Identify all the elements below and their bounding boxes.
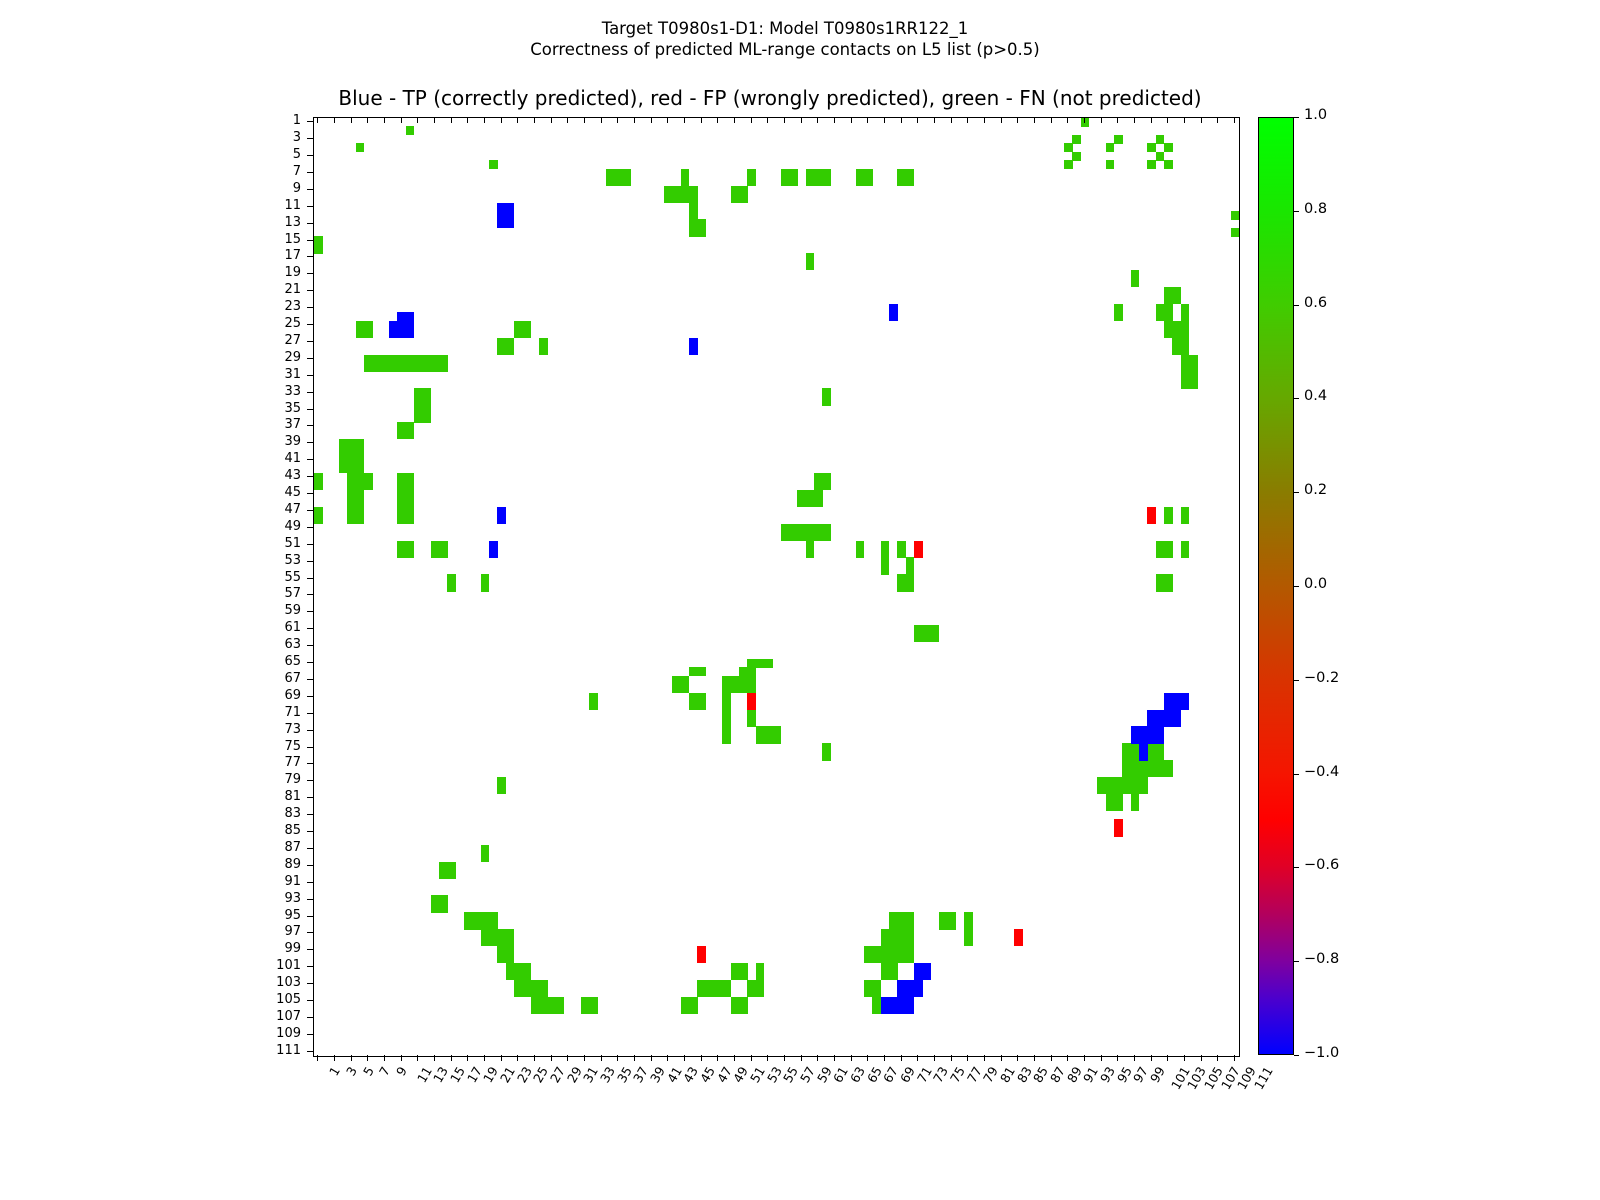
y-axis-label: 101 [247,958,301,973]
y-axis-label: 21 [247,282,301,297]
x-axis-tick [334,117,335,123]
y-axis-tick [307,780,313,781]
y-axis-label: 19 [247,265,301,280]
y-axis-tick [307,544,313,545]
contact-cell-fn [822,752,831,761]
contact-cell-fn [906,177,915,186]
contact-cell-fn [1147,160,1156,169]
y-axis-label: 11 [247,198,301,213]
y-axis-tick [307,899,313,900]
y-axis-label: 39 [247,434,301,449]
x-axis-label: 7 [376,1064,393,1078]
x-axis-tick [1017,1055,1018,1061]
x-axis-tick [684,1055,685,1061]
x-axis-tick [951,117,952,123]
colorbar-tick [1294,117,1299,118]
x-axis-tick [1217,117,1218,123]
contact-cell-fp [1147,515,1156,524]
x-axis-tick [751,1055,752,1061]
figure-title-line1: Target T0980s1-D1: Model T0980s1RR122_1 [0,18,1570,39]
y-axis-label: 83 [247,806,301,821]
y-axis-label: 59 [247,603,301,618]
x-axis-tick [901,117,902,123]
x-axis-tick [951,1055,952,1061]
y-axis-tick [307,409,313,410]
x-axis-tick [884,117,885,123]
x-axis-tick [751,117,752,123]
x-axis-tick [1184,117,1185,123]
y-axis-label: 71 [247,705,301,720]
y-axis-tick [307,273,313,274]
y-axis-label: 25 [247,316,301,331]
contact-cell-fn [406,126,415,135]
y-axis-label: 13 [247,215,301,230]
x-axis-tick [917,117,918,123]
y-axis-label: 69 [247,688,301,703]
contact-cell-fn [822,177,831,186]
x-axis-tick [617,1055,618,1061]
y-axis-tick [307,459,313,460]
y-axis-label: 47 [247,502,301,517]
colorbar-tick-label: −1.0 [1304,1045,1339,1061]
y-axis-tick [307,206,313,207]
contact-cell-tp [497,515,506,524]
y-axis-label: 85 [247,823,301,838]
x-axis-tick [1234,1055,1235,1061]
x-axis-tick [334,1055,335,1061]
y-axis-tick [307,713,313,714]
y-axis-label: 15 [247,232,301,247]
contact-cell-fn [1164,583,1173,592]
x-axis-tick [384,1055,385,1061]
x-axis-tick [1084,117,1085,123]
y-axis-label: 9 [247,181,301,196]
x-axis-tick [601,117,602,123]
colorbar-gradient [1258,117,1294,1055]
y-axis-label: 37 [247,417,301,432]
x-axis-tick [1034,117,1035,123]
colorbar-tick-label: −0.2 [1304,670,1339,686]
contact-cell-fn [1231,211,1240,220]
y-axis-tick [307,510,313,511]
colorbar-tick-label: 0.6 [1304,295,1327,311]
x-axis-tick [434,117,435,123]
colorbar-tick [1294,305,1299,306]
contact-cell-fn [739,1005,748,1014]
x-axis-tick [417,117,418,123]
y-axis-tick [307,865,313,866]
contact-cell-tp [689,346,698,355]
y-axis-label: 79 [247,772,301,787]
y-axis-label: 49 [247,519,301,534]
colorbar-tick [1294,961,1299,962]
x-axis-tick [701,1055,702,1061]
contact-cell-fn [481,583,490,592]
x-axis-tick [801,1055,802,1061]
y-axis-tick [307,172,313,173]
contact-cell-tp [914,988,923,997]
contact-cell-fn [489,160,498,169]
x-axis-tick [767,117,768,123]
x-axis-tick [967,1055,968,1061]
x-axis-tick [317,117,318,123]
contact-cell-fn [1164,769,1173,778]
y-axis-label: 55 [247,570,301,585]
x-axis-tick [1084,1055,1085,1061]
x-axis-tick [867,117,868,123]
x-axis-tick [634,1055,635,1061]
contact-cell-fn [1081,118,1090,127]
contact-cell-fn [439,904,448,913]
y-axis-label: 43 [247,468,301,483]
contact-cell-fn [697,228,706,237]
contact-cell-fn [764,659,773,668]
y-axis-tick [307,341,313,342]
x-axis-tick [467,117,468,123]
y-axis-tick [307,527,313,528]
x-axis-tick [934,1055,935,1061]
y-axis-tick [307,797,313,798]
x-axis-tick [867,1055,868,1061]
x-axis-tick [684,117,685,123]
colorbar-tick [1294,398,1299,399]
contact-cell-fp [1014,938,1023,947]
y-axis-label: 31 [247,367,301,382]
y-axis-label: 81 [247,789,301,804]
x-axis-tick [651,1055,652,1061]
y-axis-label: 93 [247,891,301,906]
x-axis-tick [517,1055,518,1061]
x-axis-tick [551,1055,552,1061]
y-axis-tick [307,1000,313,1001]
contact-cell-fn [1131,279,1140,288]
y-axis-label: 99 [247,941,301,956]
x-axis-label: 99 [1147,1064,1168,1085]
contact-cell-fn [906,583,915,592]
contact-cell-fn [747,177,756,186]
colorbar-tick-label: −0.4 [1304,764,1339,780]
x-axis-tick [917,1055,918,1061]
x-axis-tick [884,1055,885,1061]
y-axis-label: 33 [247,384,301,399]
contact-cell-fn [697,667,706,676]
contact-cell-fn [806,549,815,558]
contact-cell-tp [489,549,498,558]
contact-cell-fn [822,481,831,490]
x-axis-tick [567,117,568,123]
colorbar-tick [1294,680,1299,681]
contact-cell-fn [406,515,415,524]
contact-cell-tp [889,312,898,321]
y-axis-label: 5 [247,147,301,162]
contact-cell-fn [447,583,456,592]
x-axis-tick [501,1055,502,1061]
colorbar-tick-label: −0.6 [1304,857,1339,873]
colorbar-tick-label: −0.8 [1304,951,1339,967]
contact-cell-fn [1231,228,1240,237]
y-axis-label: 95 [247,908,301,923]
y-axis-tick [307,1017,313,1018]
contact-cell-tp [1156,735,1165,744]
y-axis-label: 3 [247,130,301,145]
x-axis-tick [584,117,585,123]
y-axis-tick [307,493,313,494]
contact-cell-fn [1164,143,1173,152]
x-axis-tick [1134,1055,1135,1061]
x-axis-tick [734,117,735,123]
colorbar-tick [1294,1055,1299,1056]
x-axis-tick [384,117,385,123]
contact-cell-fn [756,988,765,997]
y-axis-tick [307,983,313,984]
y-axis-label: 29 [247,350,301,365]
contact-cell-fn [931,633,940,642]
contact-cell-fn [356,515,365,524]
x-axis-tick [784,1055,785,1061]
x-axis-tick [717,117,718,123]
y-axis-tick [307,594,313,595]
contact-cell-fn [447,870,456,879]
x-axis-tick [984,1055,985,1061]
colorbar-tick [1294,586,1299,587]
contact-cell-fn [539,346,548,355]
contact-cell-fn [739,194,748,203]
contact-map-plot-area[interactable] [313,117,1240,1057]
y-axis-label: 73 [247,722,301,737]
y-axis-tick [307,1034,313,1035]
contact-cell-fn [439,363,448,372]
x-axis-tick [401,1055,402,1061]
contact-cell-fn [439,549,448,558]
y-axis-tick [307,155,313,156]
contact-cell-fn [622,177,631,186]
y-axis-label: 111 [247,1043,301,1058]
contact-cell-fn [1181,515,1190,524]
y-axis-tick [307,392,313,393]
contact-map-cells [314,118,1239,1056]
contact-cell-fn [556,1005,565,1014]
contact-cell-fn [822,397,831,406]
x-axis-tick [934,117,935,123]
x-axis-tick [1101,1055,1102,1061]
y-axis-label: 67 [247,671,301,686]
contact-cell-fn [822,532,831,541]
x-axis-tick [851,1055,852,1061]
x-axis-tick [1051,117,1052,123]
contact-cell-fn [1189,380,1198,389]
contact-cell-tp [506,219,515,228]
contact-cell-fn [772,735,781,744]
contact-cell-fn [522,329,531,338]
x-axis-tick [1034,1055,1035,1061]
contact-cell-fn [506,346,515,355]
x-axis-tick [834,1055,835,1061]
contact-cell-fn [364,481,373,490]
x-axis-tick [351,1055,352,1061]
contact-cell-fn [406,549,415,558]
x-axis-tick [984,117,985,123]
x-axis-tick [1201,117,1202,123]
contact-cell-fn [422,414,431,423]
x-axis-tick [967,117,968,123]
x-axis-tick [567,1055,568,1061]
y-axis-label: 107 [247,1009,301,1024]
contact-cell-tp [906,1005,915,1014]
x-axis-tick [534,117,535,123]
y-axis-tick [307,578,313,579]
contact-cell-fn [1164,160,1173,169]
x-axis-tick [317,1055,318,1061]
colorbar-tick-label: 1.0 [1304,107,1327,123]
x-axis-tick [1101,117,1102,123]
x-axis-tick [417,1055,418,1061]
colorbar-tick-label: 0.8 [1304,201,1327,217]
contact-cell-fp [914,549,923,558]
y-axis-label: 77 [247,755,301,770]
x-axis-tick [1234,117,1235,123]
colorbar-tick-label: 0.0 [1304,576,1327,592]
contact-cell-tp [1139,752,1148,761]
y-axis-tick [307,882,313,883]
colorbar-tick-label: 0.2 [1304,482,1327,498]
x-axis-tick [1001,117,1002,123]
x-axis-tick [367,117,368,123]
contact-cell-fn [589,1005,598,1014]
y-axis-tick [307,138,313,139]
y-axis-label: 97 [247,924,301,939]
x-axis-label: 9 [393,1064,410,1078]
y-axis-tick [307,730,313,731]
x-axis-tick [651,117,652,123]
y-axis-tick [307,848,313,849]
y-axis-label: 63 [247,637,301,652]
x-axis-tick [467,1055,468,1061]
contact-cell-fn [722,735,731,744]
y-axis-tick [307,476,313,477]
x-axis-tick [534,1055,535,1061]
y-axis-tick [307,814,313,815]
y-axis-label: 105 [247,992,301,1007]
y-axis-tick [307,442,313,443]
figure-title-line2: Correctness of predicted ML-range contac… [0,39,1570,60]
contact-cell-fn [856,549,865,558]
contact-cell-fn [1114,312,1123,321]
y-axis-label: 57 [247,586,301,601]
y-axis-label: 51 [247,536,301,551]
y-axis-label: 91 [247,874,301,889]
contact-cell-fn [1164,549,1173,558]
contact-map-figure: Target T0980s1-D1: Model T0980s1RR122_1 … [0,0,1600,1200]
x-axis-tick [851,117,852,123]
contact-cell-fn [356,143,365,152]
y-axis-tick [307,189,313,190]
x-axis-tick [351,117,352,123]
contact-cell-fn [364,329,373,338]
y-axis-tick [307,645,313,646]
y-axis-tick [307,747,313,748]
contact-cell-fn [1139,786,1148,795]
contact-cell-fn [697,701,706,710]
y-axis-tick [307,121,313,122]
x-axis-tick [367,1055,368,1061]
colorbar-tick [1294,211,1299,212]
y-axis-tick [307,916,313,917]
contact-cell-fn [1114,802,1123,811]
contact-cell-fn [314,481,323,490]
y-axis-label: 61 [247,620,301,635]
contact-cell-fn [789,177,798,186]
x-axis-tick [1167,117,1168,123]
contact-cell-fn [1181,549,1190,558]
x-axis-tick [701,117,702,123]
contact-cell-fn [314,515,323,524]
x-axis-tick [817,1055,818,1061]
x-axis-tick [434,1055,435,1061]
contact-cell-tp [1172,718,1181,727]
y-axis-label: 109 [247,1026,301,1041]
contact-cell-fn [589,701,598,710]
x-axis-label: 1 [326,1064,343,1078]
contact-cell-fn [314,245,323,254]
x-axis-tick [1167,1055,1168,1061]
x-axis-tick [401,117,402,123]
x-axis-tick [617,117,618,123]
y-axis-tick [307,696,313,697]
contact-cell-fn [814,498,823,507]
x-axis-label: 5 [359,1064,376,1078]
contact-cell-fn [864,177,873,186]
x-axis-tick [801,117,802,123]
x-axis-tick [551,117,552,123]
x-axis-tick [834,117,835,123]
y-axis-tick [307,561,313,562]
y-axis-tick [307,290,313,291]
contact-cell-fn [881,566,890,575]
contact-cell-fn [947,921,956,930]
x-axis-tick [1217,1055,1218,1061]
contact-cell-fn [497,786,506,795]
y-axis-tick [307,223,313,224]
y-axis-tick [307,949,313,950]
y-axis-tick [307,375,313,376]
contact-cell-fn [1114,135,1123,144]
x-axis-tick [634,117,635,123]
contact-cell-fn [964,938,973,947]
y-axis-label: 1 [247,113,301,128]
x-axis-tick [1017,117,1018,123]
y-axis-label: 53 [247,553,301,568]
y-axis-label: 7 [247,164,301,179]
contact-cell-fn [1072,152,1081,161]
y-axis-label: 89 [247,857,301,872]
x-axis-tick [717,1055,718,1061]
contact-cell-fn [806,262,815,271]
x-axis-tick [667,117,668,123]
x-axis-tick [484,117,485,123]
y-axis-tick [307,628,313,629]
y-axis-tick [307,966,313,967]
x-axis-tick [1151,1055,1152,1061]
y-axis-tick [307,763,313,764]
contact-cell-fp [697,955,706,964]
x-axis-tick [601,1055,602,1061]
contact-cell-tp [406,329,415,338]
x-axis-tick [1184,1055,1185,1061]
contact-cell-tp [1181,701,1190,710]
x-axis-tick [1117,117,1118,123]
x-axis-tick [1067,117,1068,123]
x-axis-tick [817,117,818,123]
